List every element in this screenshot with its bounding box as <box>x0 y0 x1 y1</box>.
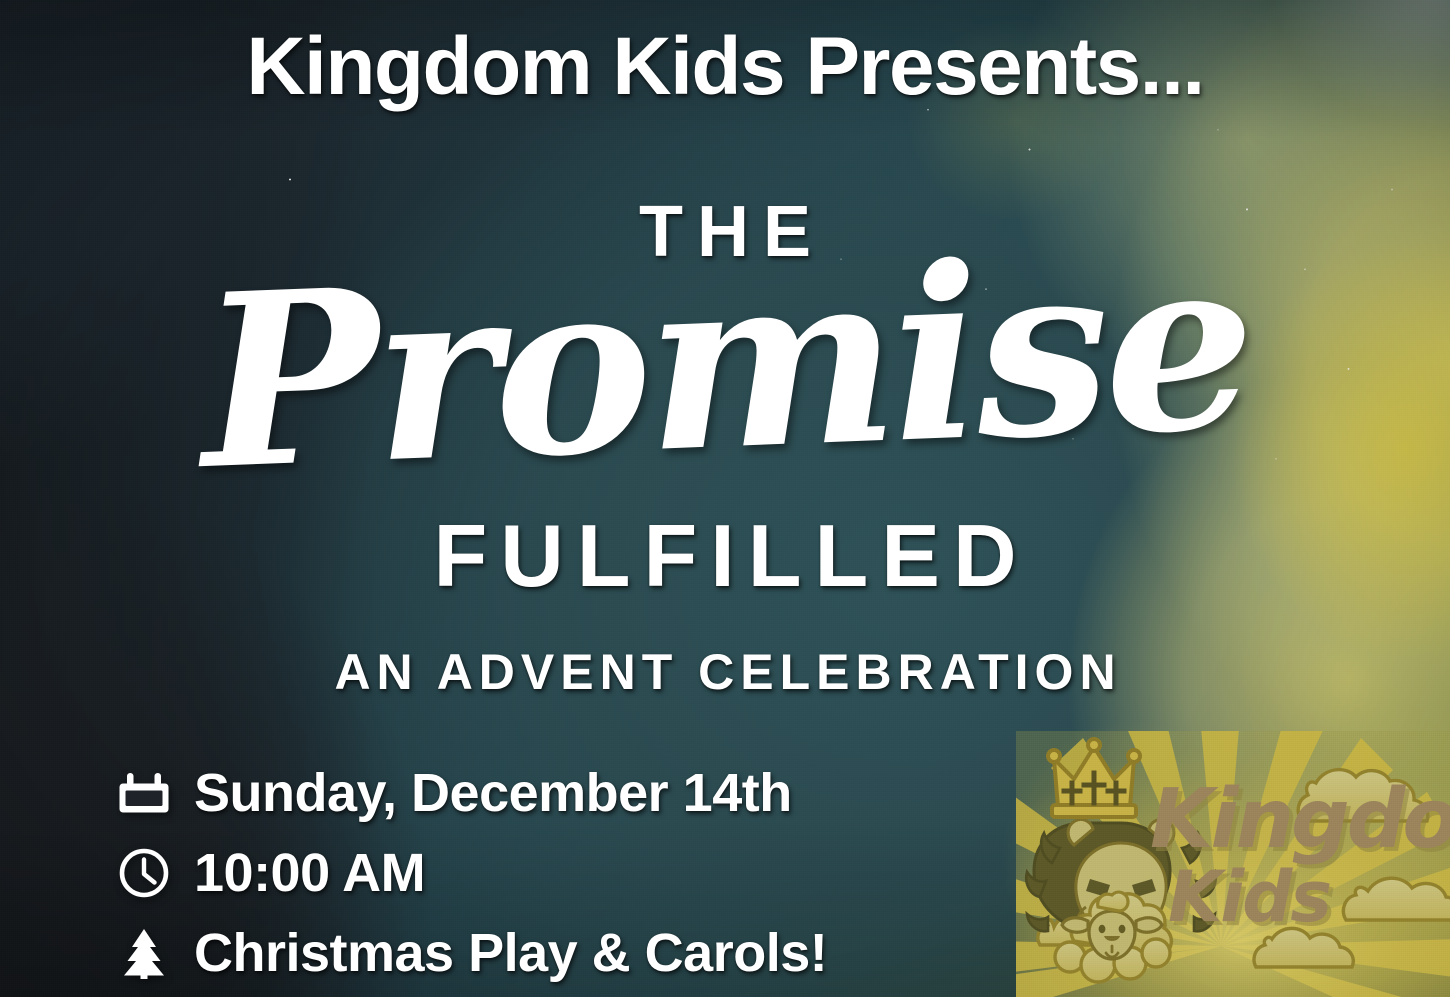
detail-text-date: Sunday, December 14th <box>194 766 792 820</box>
subtitle-advent-celebration: AN ADVENT CELEBRATION <box>0 647 1450 697</box>
detail-row-activity: Christmas Play & Carols! <box>118 926 827 980</box>
presents-headline: Kingdom Kids Presents... <box>0 26 1450 108</box>
detail-text-time: 10:00 AM <box>194 846 425 900</box>
detail-text-activity: Christmas Play & Carols! <box>194 926 827 980</box>
calendar-icon <box>118 767 170 819</box>
christmas-tree-icon <box>118 927 170 979</box>
kingdom-kids-logo: Kingdom Kingdom Kids Kids <box>1016 731 1450 997</box>
poster-content: Kingdom Kids Presents... THE Promise FUL… <box>0 0 1450 997</box>
advent-flyer-poster: Kingdom Kids Presents... THE Promise FUL… <box>0 0 1450 997</box>
detail-row-time: 10:00 AM <box>118 846 827 900</box>
event-details-list: Sunday, December 14th 10:00 AM <box>118 766 827 980</box>
detail-row-date: Sunday, December 14th <box>118 766 827 820</box>
title-word-promise-script: Promise <box>0 217 1450 510</box>
clock-icon <box>118 847 170 899</box>
title-word-fulfilled: FULFILLED <box>0 512 1450 600</box>
